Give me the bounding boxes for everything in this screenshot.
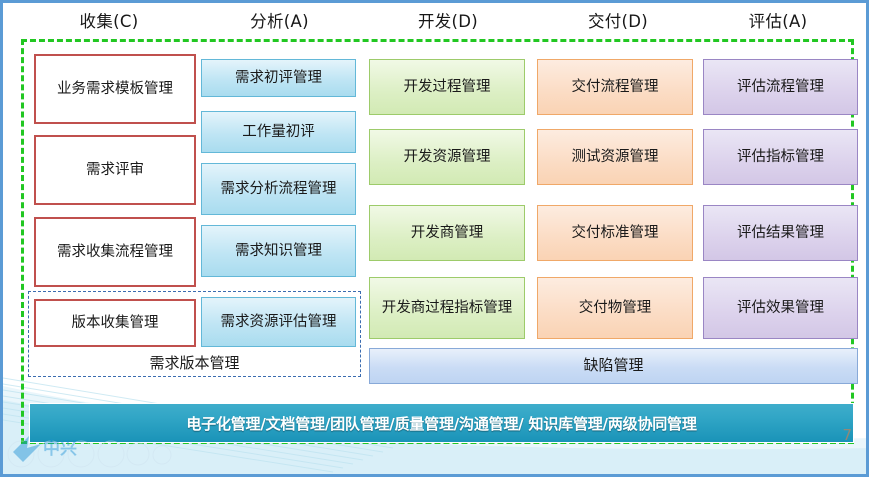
function-box-delivery-process[interactable]: 交付流程管理 (537, 59, 693, 115)
column-header-row: 收集(C) 分析(A) 开发(D) 交付(D) 评估(A) (21, 9, 854, 37)
function-box-test-resource[interactable]: 测试资源管理 (537, 129, 693, 185)
function-box-workload-initial-estimate[interactable]: 工作量初评 (201, 111, 356, 153)
function-box-version-collection[interactable]: 版本收集管理 (34, 299, 196, 347)
function-box-requirement-resource-evaluation[interactable]: 需求资源评估管理 (201, 297, 356, 347)
function-box-evaluation-result[interactable]: 评估结果管理 (703, 205, 858, 261)
function-box-requirement-analysis-process[interactable]: 需求分析流程管理 (201, 163, 356, 215)
column-header-deliver: 交付(D) (534, 9, 702, 37)
function-box-developer-management[interactable]: 开发商管理 (369, 205, 525, 261)
function-box-requirement-initial-review[interactable]: 需求初评管理 (201, 59, 356, 97)
function-box-development-process[interactable]: 开发过程管理 (369, 59, 525, 115)
function-box-evaluation-effect[interactable]: 评估效果管理 (703, 277, 858, 339)
function-box-deliverable-management[interactable]: 交付物管理 (537, 277, 693, 339)
column-header-evaluate: 评估(A) (702, 9, 854, 37)
function-box-development-resource[interactable]: 开发资源管理 (369, 129, 525, 185)
function-box-requirement-review[interactable]: 需求评审 (34, 135, 196, 205)
column-header-develop: 开发(D) (362, 9, 534, 37)
function-box-evaluation-metrics[interactable]: 评估指标管理 (703, 129, 858, 185)
function-box-evaluation-process[interactable]: 评估流程管理 (703, 59, 858, 115)
slide-number: 7 (842, 426, 852, 444)
slide-canvas: 收集(C) 分析(A) 开发(D) 交付(D) 评估(A) 业务需求模板管理 需… (0, 0, 869, 477)
foundation-services-banner: 电子化管理/文档管理/团队管理/质量管理/沟通管理/ 知识库管理/两级协同管理 (29, 403, 854, 443)
function-box-business-requirement-template[interactable]: 业务需求模板管理 (34, 54, 196, 124)
column-header-analyze: 分析(A) (197, 9, 362, 37)
function-box-defect-management[interactable]: 缺陷管理 (369, 348, 858, 384)
function-box-developer-process-metrics[interactable]: 开发商过程指标管理 (369, 277, 525, 339)
function-box-requirement-knowledge[interactable]: 需求知识管理 (201, 225, 356, 277)
function-box-requirement-collection-process[interactable]: 需求收集流程管理 (34, 217, 196, 287)
function-box-delivery-standard[interactable]: 交付标准管理 (537, 205, 693, 261)
column-header-collect: 收集(C) (21, 9, 197, 37)
